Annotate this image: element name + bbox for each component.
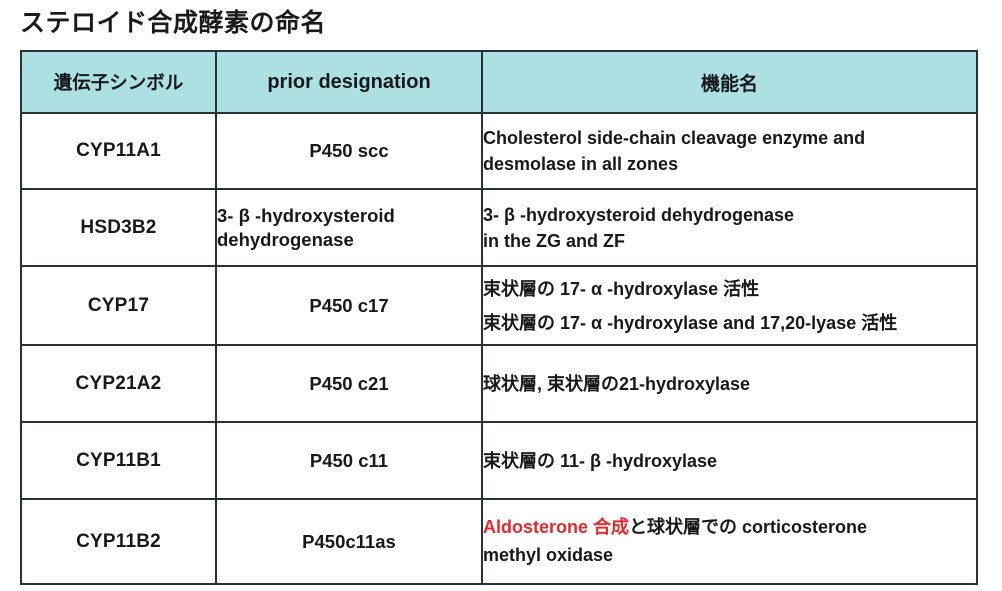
function-line: 束状層の 17- α -hydroxylase and 17,20-lyase … xyxy=(483,306,976,340)
prior-line: 3- β -hydroxysteroid xyxy=(217,205,395,226)
table-row: CYP11A1 P450 scc Cholesterol side-chain … xyxy=(21,113,977,189)
prior-designation-text: 3- β -hydroxysteroid dehydrogenase xyxy=(217,204,481,252)
table-row: CYP11B1 P450 c11 束状層の 11- β -hydroxylase xyxy=(21,422,977,499)
gene-symbol-cell: CYP11B1 xyxy=(21,422,216,499)
function-name-cell: Aldosterone 合成と球状層での corticosterone meth… xyxy=(482,499,977,584)
function-name-cell: 3- β -hydroxysteroid dehydrogenase in th… xyxy=(482,189,977,266)
page-title: ステロイド合成酵素の命名 xyxy=(20,6,326,40)
function-line: 球状層, 束状層の21-hydroxylase xyxy=(483,371,976,397)
prior-designation-text: P450 c11 xyxy=(310,449,388,473)
prior-designation-text: P450c11as xyxy=(302,530,396,554)
function-name-cell: 球状層, 束状層の21-hydroxylase xyxy=(482,345,977,422)
function-line: 束状層の 17- α -hydroxylase 活性 xyxy=(483,272,976,306)
prior-designation-cell: P450 scc xyxy=(216,113,482,189)
function-line-rest: と球状層での corticosterone xyxy=(629,517,867,537)
prior-designation-cell: P450 c21 xyxy=(216,345,482,422)
gene-symbol-cell: CYP17 xyxy=(21,266,216,345)
table-row: CYP21A2 P450 c21 球状層, 束状層の21-hydroxylase xyxy=(21,345,977,422)
gene-symbol-cell: CYP11B2 xyxy=(21,499,216,584)
prior-designation-cell: P450c11as xyxy=(216,499,482,584)
header-row: 遺伝子シンボル prior designation 機能名 xyxy=(21,51,977,113)
function-name-cell: 束状層の 11- β -hydroxylase xyxy=(482,422,977,499)
function-line: Aldosterone 合成と球状層での corticosterone xyxy=(483,514,976,542)
prior-designation-cell: P450 c11 xyxy=(216,422,482,499)
aldosterone-highlight: Aldosterone 合成 xyxy=(483,517,629,537)
table-body: CYP11A1 P450 scc Cholesterol side-chain … xyxy=(21,113,977,584)
gene-symbol-cell: HSD3B2 xyxy=(21,189,216,266)
function-line: 3- β -hydroxysteroid dehydrogenase xyxy=(483,202,976,228)
table-row: HSD3B2 3- β -hydroxysteroid dehydrogenas… xyxy=(21,189,977,266)
column-header-prior-designation: prior designation xyxy=(216,51,482,113)
table-row: CYP11B2 P450c11as Aldosterone 合成と球状層での c… xyxy=(21,499,977,584)
prior-designation-text: P450 scc xyxy=(309,139,388,163)
prior-designation-cell: 3- β -hydroxysteroid dehydrogenase xyxy=(216,189,482,266)
function-name-cell: Cholesterol side-chain cleavage enzyme a… xyxy=(482,113,977,189)
function-line: desmolase in all zones xyxy=(483,151,976,177)
function-line: methyl oxidase xyxy=(483,542,976,570)
gene-symbol-cell: CYP21A2 xyxy=(21,345,216,422)
function-name-cell: 束状層の 17- α -hydroxylase 活性 束状層の 17- α -h… xyxy=(482,266,977,345)
function-line: Cholesterol side-chain cleavage enzyme a… xyxy=(483,125,976,151)
prior-designation-cell: P450 c17 xyxy=(216,266,482,345)
column-header-function-name: 機能名 xyxy=(482,51,977,113)
gene-symbol-cell: CYP11A1 xyxy=(21,113,216,189)
table-header: 遺伝子シンボル prior designation 機能名 xyxy=(21,51,977,113)
function-line: 束状層の 11- β -hydroxylase xyxy=(483,448,976,474)
steroid-enzyme-table: 遺伝子シンボル prior designation 機能名 CYP11A1 P4… xyxy=(20,50,978,585)
function-line: in the ZG and ZF xyxy=(483,228,976,254)
column-header-gene-symbol: 遺伝子シンボル xyxy=(21,51,216,113)
table-row: CYP17 P450 c17 束状層の 17- α -hydroxylase 活… xyxy=(21,266,977,345)
prior-designation-text: P450 c17 xyxy=(309,294,388,318)
prior-line: dehydrogenase xyxy=(217,229,354,250)
prior-designation-text: P450 c21 xyxy=(309,372,388,396)
